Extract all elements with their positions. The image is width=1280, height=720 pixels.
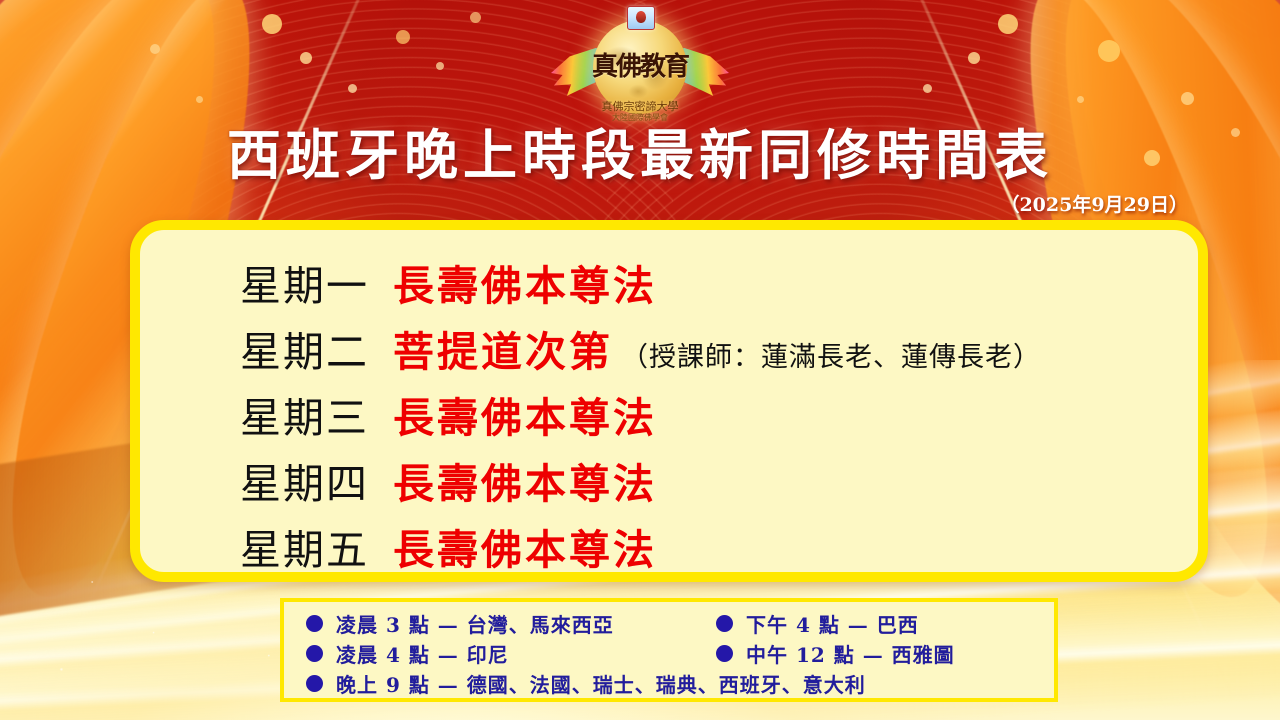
- bullet-dot-icon: [716, 645, 733, 662]
- legend-item: 凌晨 3 點 — 台灣、馬來西亞: [284, 608, 694, 638]
- bokeh-dot: [300, 52, 312, 64]
- organization-logo: 真佛教育 真佛宗密諦大學 大陸國際佛學會: [545, 6, 735, 132]
- bokeh-dot: [196, 96, 203, 103]
- date-note: （2025年9月29日）: [1000, 190, 1188, 217]
- bokeh-dot: [1077, 96, 1084, 103]
- schedule-topic: 菩提道次第: [393, 318, 613, 378]
- bokeh-dot: [262, 14, 282, 34]
- schedule-note: （授課師：蓮滿長老、蓮傳長老）: [621, 335, 1041, 374]
- legend-label: 晚上 9 點 — 德國、法國、瑞士、瑞典、西班牙、意大利: [336, 669, 866, 698]
- schedule-topic: 長壽佛本尊法: [393, 516, 657, 576]
- bokeh-dot: [968, 52, 980, 64]
- bokeh-dot: [348, 84, 357, 93]
- bullet-dot-icon: [306, 615, 323, 632]
- legend-label: 下午 4 點 — 巴西: [746, 609, 919, 638]
- bullet-dot-icon: [306, 675, 323, 692]
- schedule-topic: 長壽佛本尊法: [393, 384, 657, 444]
- legend-item: 晚上 9 點 — 德國、法國、瑞士、瑞典、西班牙、意大利: [284, 668, 1054, 698]
- schedule-row: 星期二 菩提道次第 （授課師：蓮滿長老、蓮傳長老）: [140, 318, 1198, 384]
- legend-label: 中午 12 點 — 西雅圖: [746, 639, 955, 668]
- page-title: 西班牙晚上時段最新同修時間表: [0, 128, 1280, 182]
- logo-sub-text-2: 大陸國際佛學會: [612, 112, 668, 123]
- bokeh-dot: [150, 44, 160, 54]
- schedule-day: 星期四: [240, 450, 369, 510]
- bokeh-dot: [1098, 40, 1120, 62]
- schedule-row: 星期四 長壽佛本尊法: [140, 450, 1198, 516]
- bokeh-dot: [1181, 92, 1194, 105]
- legend-item: 凌晨 4 點 — 印尼: [284, 638, 694, 668]
- legend-label: 凌晨 3 點 — 台灣、馬來西亞: [336, 609, 614, 638]
- bullet-dot-icon: [306, 645, 323, 662]
- legend-label: 凌晨 4 點 — 印尼: [336, 639, 509, 668]
- schedule-row: 星期一 長壽佛本尊法: [140, 252, 1198, 318]
- bullet-dot-icon: [716, 615, 733, 632]
- bokeh-dot: [998, 14, 1018, 34]
- bokeh-dot: [470, 12, 481, 23]
- schedule-topic: 長壽佛本尊法: [393, 450, 657, 510]
- poster-canvas: 真佛教育 真佛宗密諦大學 大陸國際佛學會 西班牙晚上時段最新同修時間表 （202…: [0, 0, 1280, 720]
- schedule-day: 星期三: [240, 384, 369, 444]
- bokeh-dot: [436, 62, 444, 70]
- schedule-row: 星期五 長壽佛本尊法: [140, 516, 1198, 582]
- schedule-panel: 星期一 長壽佛本尊法 星期二 菩提道次第 （授課師：蓮滿長老、蓮傳長老） 星期三…: [130, 220, 1208, 582]
- timezone-legend-grid: 凌晨 3 點 — 台灣、馬來西亞 下午 4 點 — 巴西 凌晨 4 點 — 印尼…: [284, 608, 1054, 698]
- schedule-day: 星期五: [240, 516, 369, 576]
- crest-icon: [627, 6, 655, 30]
- timezone-legend-box: 凌晨 3 點 — 台灣、馬來西亞 下午 4 點 — 巴西 凌晨 4 點 — 印尼…: [280, 598, 1058, 702]
- legend-item: 中午 12 點 — 西雅圖: [694, 638, 1054, 668]
- schedule-row: 星期三 長壽佛本尊法: [140, 384, 1198, 450]
- schedule-day: 星期二: [240, 318, 369, 378]
- schedule-day: 星期一: [240, 252, 369, 312]
- schedule-topic: 長壽佛本尊法: [393, 252, 657, 312]
- logo-main-text: 真佛教育: [585, 46, 695, 83]
- legend-item: 下午 4 點 — 巴西: [694, 608, 1054, 638]
- bokeh-dot: [923, 84, 932, 93]
- bokeh-dot: [396, 30, 410, 44]
